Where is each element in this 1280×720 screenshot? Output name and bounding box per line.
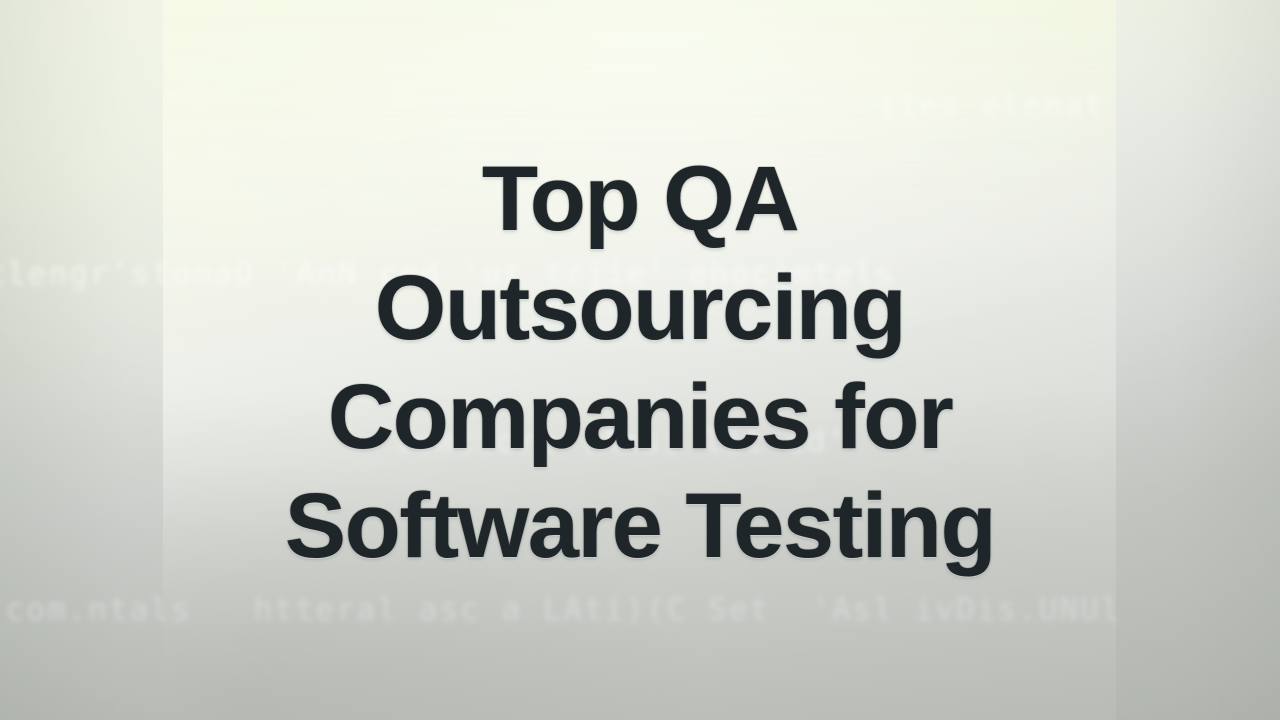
title-block: Top QA Outsourcing Companies for Softwar… — [0, 0, 1280, 720]
title-line-1: Top QA — [482, 155, 798, 264]
title-line-3: Companies for — [328, 373, 953, 482]
title-line-4: Software Testing — [285, 482, 995, 571]
title-line-2: Outsourcing — [375, 264, 905, 373]
title-card-canvas: rous by int im ctg(atva is tt hitgd' co-… — [0, 0, 1280, 720]
